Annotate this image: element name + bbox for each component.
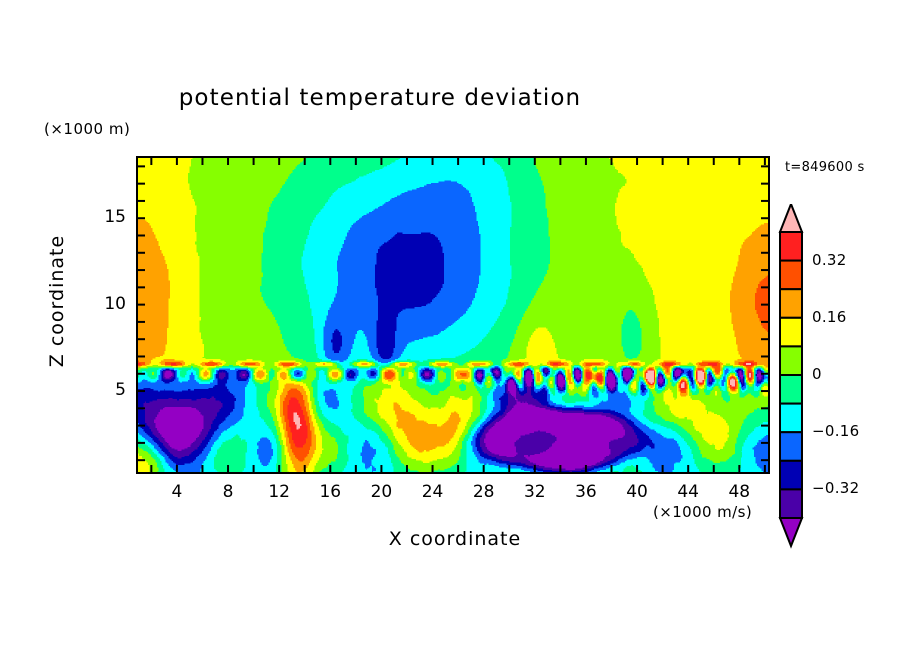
colorbar-swatch bbox=[780, 404, 802, 433]
contour-field-plot bbox=[136, 156, 770, 474]
colorbar-swatch bbox=[780, 461, 802, 490]
timestamp-annotation: t=849600 s bbox=[785, 160, 865, 175]
colorbar-tick-label: −0.32 bbox=[812, 479, 859, 497]
x-tick-label: 24 bbox=[413, 482, 453, 502]
colorbar-tick-label: 0 bbox=[812, 365, 822, 383]
x-tick-label: 4 bbox=[157, 482, 197, 502]
y-tick-label: 15 bbox=[86, 207, 126, 227]
x-tick-label: 48 bbox=[719, 482, 759, 502]
x-tick-label: 8 bbox=[208, 482, 248, 502]
y-tick-label: 10 bbox=[86, 294, 126, 314]
y-tick-label: 5 bbox=[86, 380, 126, 400]
x-tick-label: 32 bbox=[515, 482, 555, 502]
colorbar-swatch bbox=[780, 232, 802, 261]
x-axis-title: X coordinate bbox=[275, 528, 635, 550]
x-tick-label: 40 bbox=[617, 482, 657, 502]
x-tick-label: 16 bbox=[310, 482, 350, 502]
colorbar-swatch bbox=[780, 318, 802, 347]
x-axis-unit-label: (×1000 m/s) bbox=[653, 503, 752, 521]
x-tick-label: 36 bbox=[566, 482, 606, 502]
colorbar-swatch bbox=[780, 432, 802, 461]
x-tick-label: 12 bbox=[259, 482, 299, 502]
colorbar-tick-label: 0.16 bbox=[812, 308, 847, 326]
colorbar-swatch bbox=[780, 489, 802, 518]
colorbar-tick-label: 0.32 bbox=[812, 251, 847, 269]
figure-canvas: potential temperature deviation (×1000 m… bbox=[0, 0, 904, 654]
colorbar-swatch bbox=[780, 261, 802, 290]
y-axis-unit-label: (×1000 m) bbox=[44, 120, 130, 138]
page-title: potential temperature deviation bbox=[0, 85, 760, 111]
colorbar-swatch bbox=[780, 375, 802, 404]
x-tick-label: 44 bbox=[668, 482, 708, 502]
colorbar-under-arrow bbox=[780, 518, 802, 546]
colorbar-swatch bbox=[780, 289, 802, 318]
colorbar-swatch bbox=[780, 346, 802, 375]
colorbar-over-arrow bbox=[780, 204, 802, 232]
x-tick-label: 20 bbox=[361, 482, 401, 502]
colorbar-tick-label: −0.16 bbox=[812, 422, 859, 440]
y-axis-title: Z coordinate bbox=[46, 206, 68, 396]
x-tick-label: 28 bbox=[464, 482, 504, 502]
